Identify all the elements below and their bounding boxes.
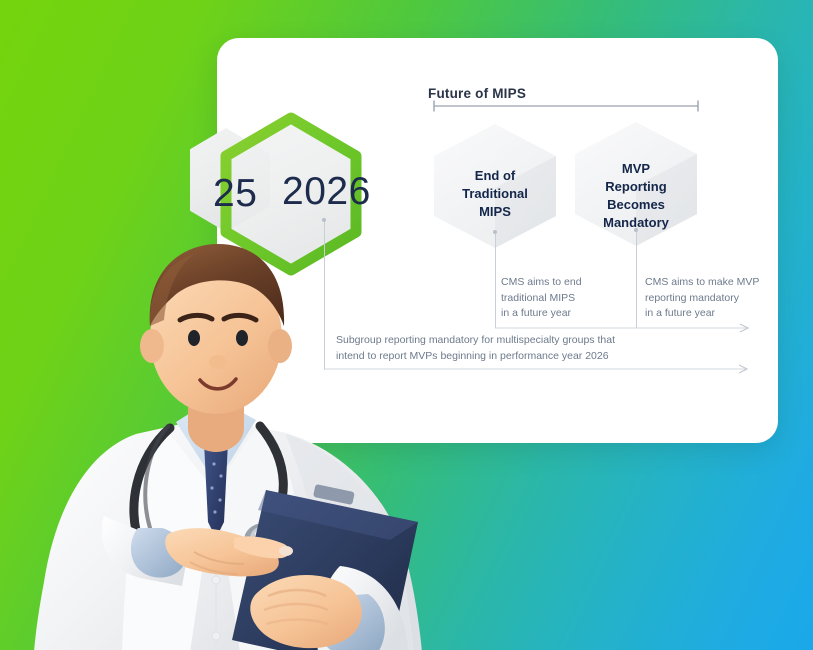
milestone-title-1-line-3: MIPS [432, 203, 558, 221]
milestone-title-2: MVP Reporting Becomes Mandatory [573, 160, 699, 232]
milestone-note-1: CMS aims to end traditional MIPS in a fu… [501, 275, 611, 322]
milestone-title-2-line-2: Reporting [573, 178, 699, 196]
milestone-title-2-line-3: Becomes [573, 196, 699, 214]
note-divider-2 [636, 276, 637, 328]
milestone-title-1: End of Traditional MIPS [432, 167, 558, 221]
timeline-bracket [433, 100, 699, 112]
year-label-2025: 25 [213, 172, 257, 216]
connector-line-2 [636, 232, 637, 276]
year-label-2026: 2026 [282, 170, 371, 214]
milestone-note-2-line-2: reporting mandatory [645, 291, 763, 307]
milestone-title-1-line-2: Traditional [432, 185, 558, 203]
milestone-note-1-line-1: CMS aims to end [501, 275, 611, 291]
milestone-note-2: CMS aims to make MVP reporting mandatory… [645, 275, 763, 322]
milestone-title-1-line-1: End of [432, 167, 558, 185]
milestone-note-2-line-3: in a future year [645, 306, 763, 322]
page-title: Future of MIPS [428, 86, 526, 101]
milestone-note-2-line-1: CMS aims to make MVP [645, 275, 763, 291]
milestone-note-1-line-2: traditional MIPS [501, 291, 611, 307]
note-divider-1 [495, 276, 496, 328]
doctor-illustration [18, 222, 438, 650]
milestone-title-2-line-1: MVP [573, 160, 699, 178]
arrow-rail-upper [495, 323, 757, 333]
connector-line-1 [495, 234, 496, 276]
milestone-note-1-line-3: in a future year [501, 306, 611, 322]
